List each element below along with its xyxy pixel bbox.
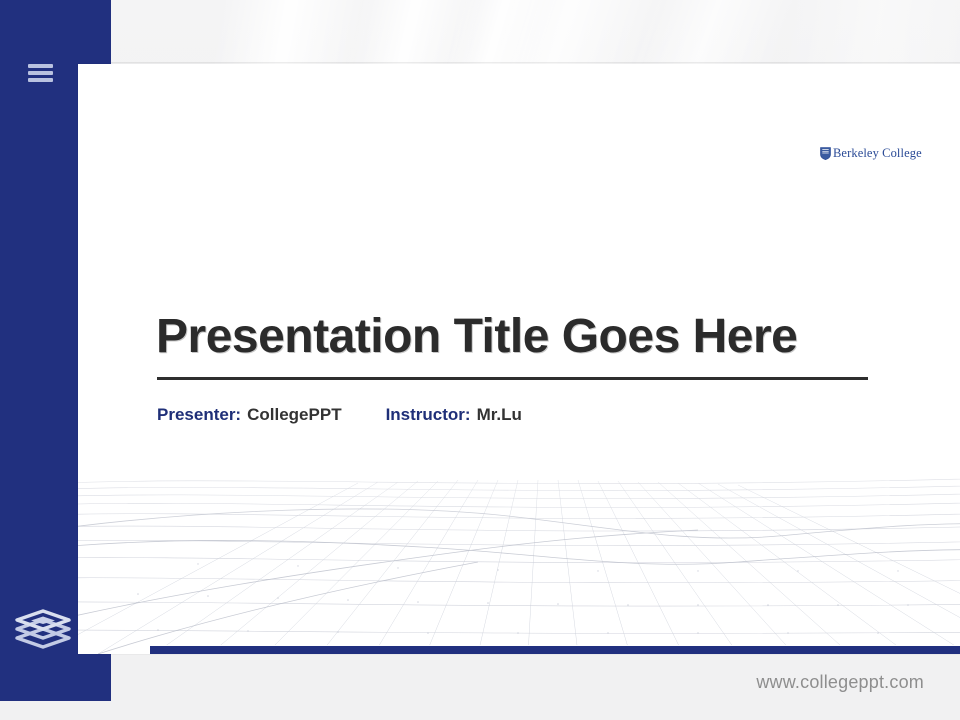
- presentation-viewer: Berkeley College Presentation Title Goes…: [0, 0, 960, 720]
- presenter-value: CollegePPT: [247, 405, 341, 425]
- presenter-label: Presenter:: [157, 405, 241, 425]
- hamburger-menu-icon[interactable]: [28, 61, 53, 85]
- wireframe-mesh-background: [78, 444, 960, 654]
- logo-wordmark: Berkeley College: [833, 147, 922, 160]
- shield-crest-icon: [820, 147, 831, 160]
- berkeley-college-logo: Berkeley College: [820, 147, 922, 160]
- site-watermark: www.collegeppt.com: [756, 672, 924, 693]
- page-title: Presentation Title Goes Here: [156, 313, 797, 361]
- title-underline-rule: [157, 377, 868, 380]
- slide-footer-bar: [150, 645, 960, 654]
- backdrop-divider: [110, 62, 960, 63]
- credits-line: Presenter: CollegePPT Instructor: Mr.Lu: [157, 405, 522, 425]
- instructor-label: Instructor:: [386, 405, 471, 425]
- layers-stack-icon[interactable]: [12, 600, 74, 658]
- instructor-value: Mr.Lu: [477, 405, 522, 425]
- slide-canvas: Berkeley College Presentation Title Goes…: [78, 64, 960, 654]
